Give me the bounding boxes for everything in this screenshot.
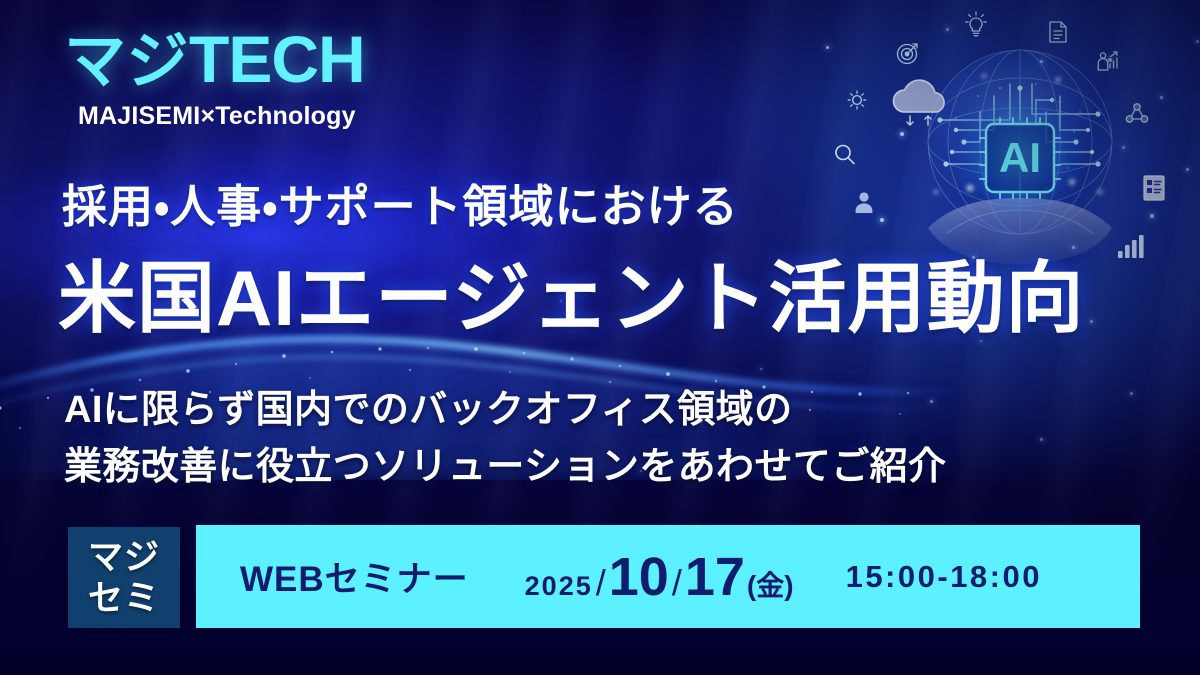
logo-prefix: マジ xyxy=(64,27,189,96)
date-month: 10 xyxy=(609,546,669,608)
majitech-logo: マジTECH MAJISEMI×Technology xyxy=(64,26,365,131)
majisemi-logo-badge: マジ セミ xyxy=(68,527,180,628)
logo-subtitle: MAJISEMI×Technology xyxy=(78,102,365,131)
event-format-label: WEBセミナー xyxy=(240,551,469,602)
logo-main-text: マジTECH xyxy=(64,26,365,93)
date-separator-1: / xyxy=(593,562,609,604)
subheadline-line-2: 業務改善に役立つソリューションをあわせてご紹介 xyxy=(64,435,946,490)
event-time: 15:00-18:00 xyxy=(846,559,1042,595)
webinar-banner: AI xyxy=(0,0,1200,675)
headline-line-2: 米国AIエージェント活用動向 xyxy=(58,236,1084,348)
logo-suffix: TECH xyxy=(189,22,365,96)
date-year: 2025 xyxy=(525,571,593,602)
subheadline-line-1: AIに限らず国内でのバックオフィス領域の xyxy=(64,378,792,433)
event-date: 2025 / 10 / 17 (金) xyxy=(525,546,794,608)
badge-line-2: セミ xyxy=(88,581,160,616)
headline-line-1: 採用・人事・サポート領域における xyxy=(62,170,739,235)
date-day-of-week: (金) xyxy=(747,564,794,604)
date-separator-2: / xyxy=(669,562,685,604)
event-info-bar: WEBセミナー 2025 / 10 / 17 (金) 15:00-18:00 xyxy=(196,525,1140,628)
date-day: 17 xyxy=(685,546,745,608)
badge-line-1: マジ xyxy=(88,540,160,575)
